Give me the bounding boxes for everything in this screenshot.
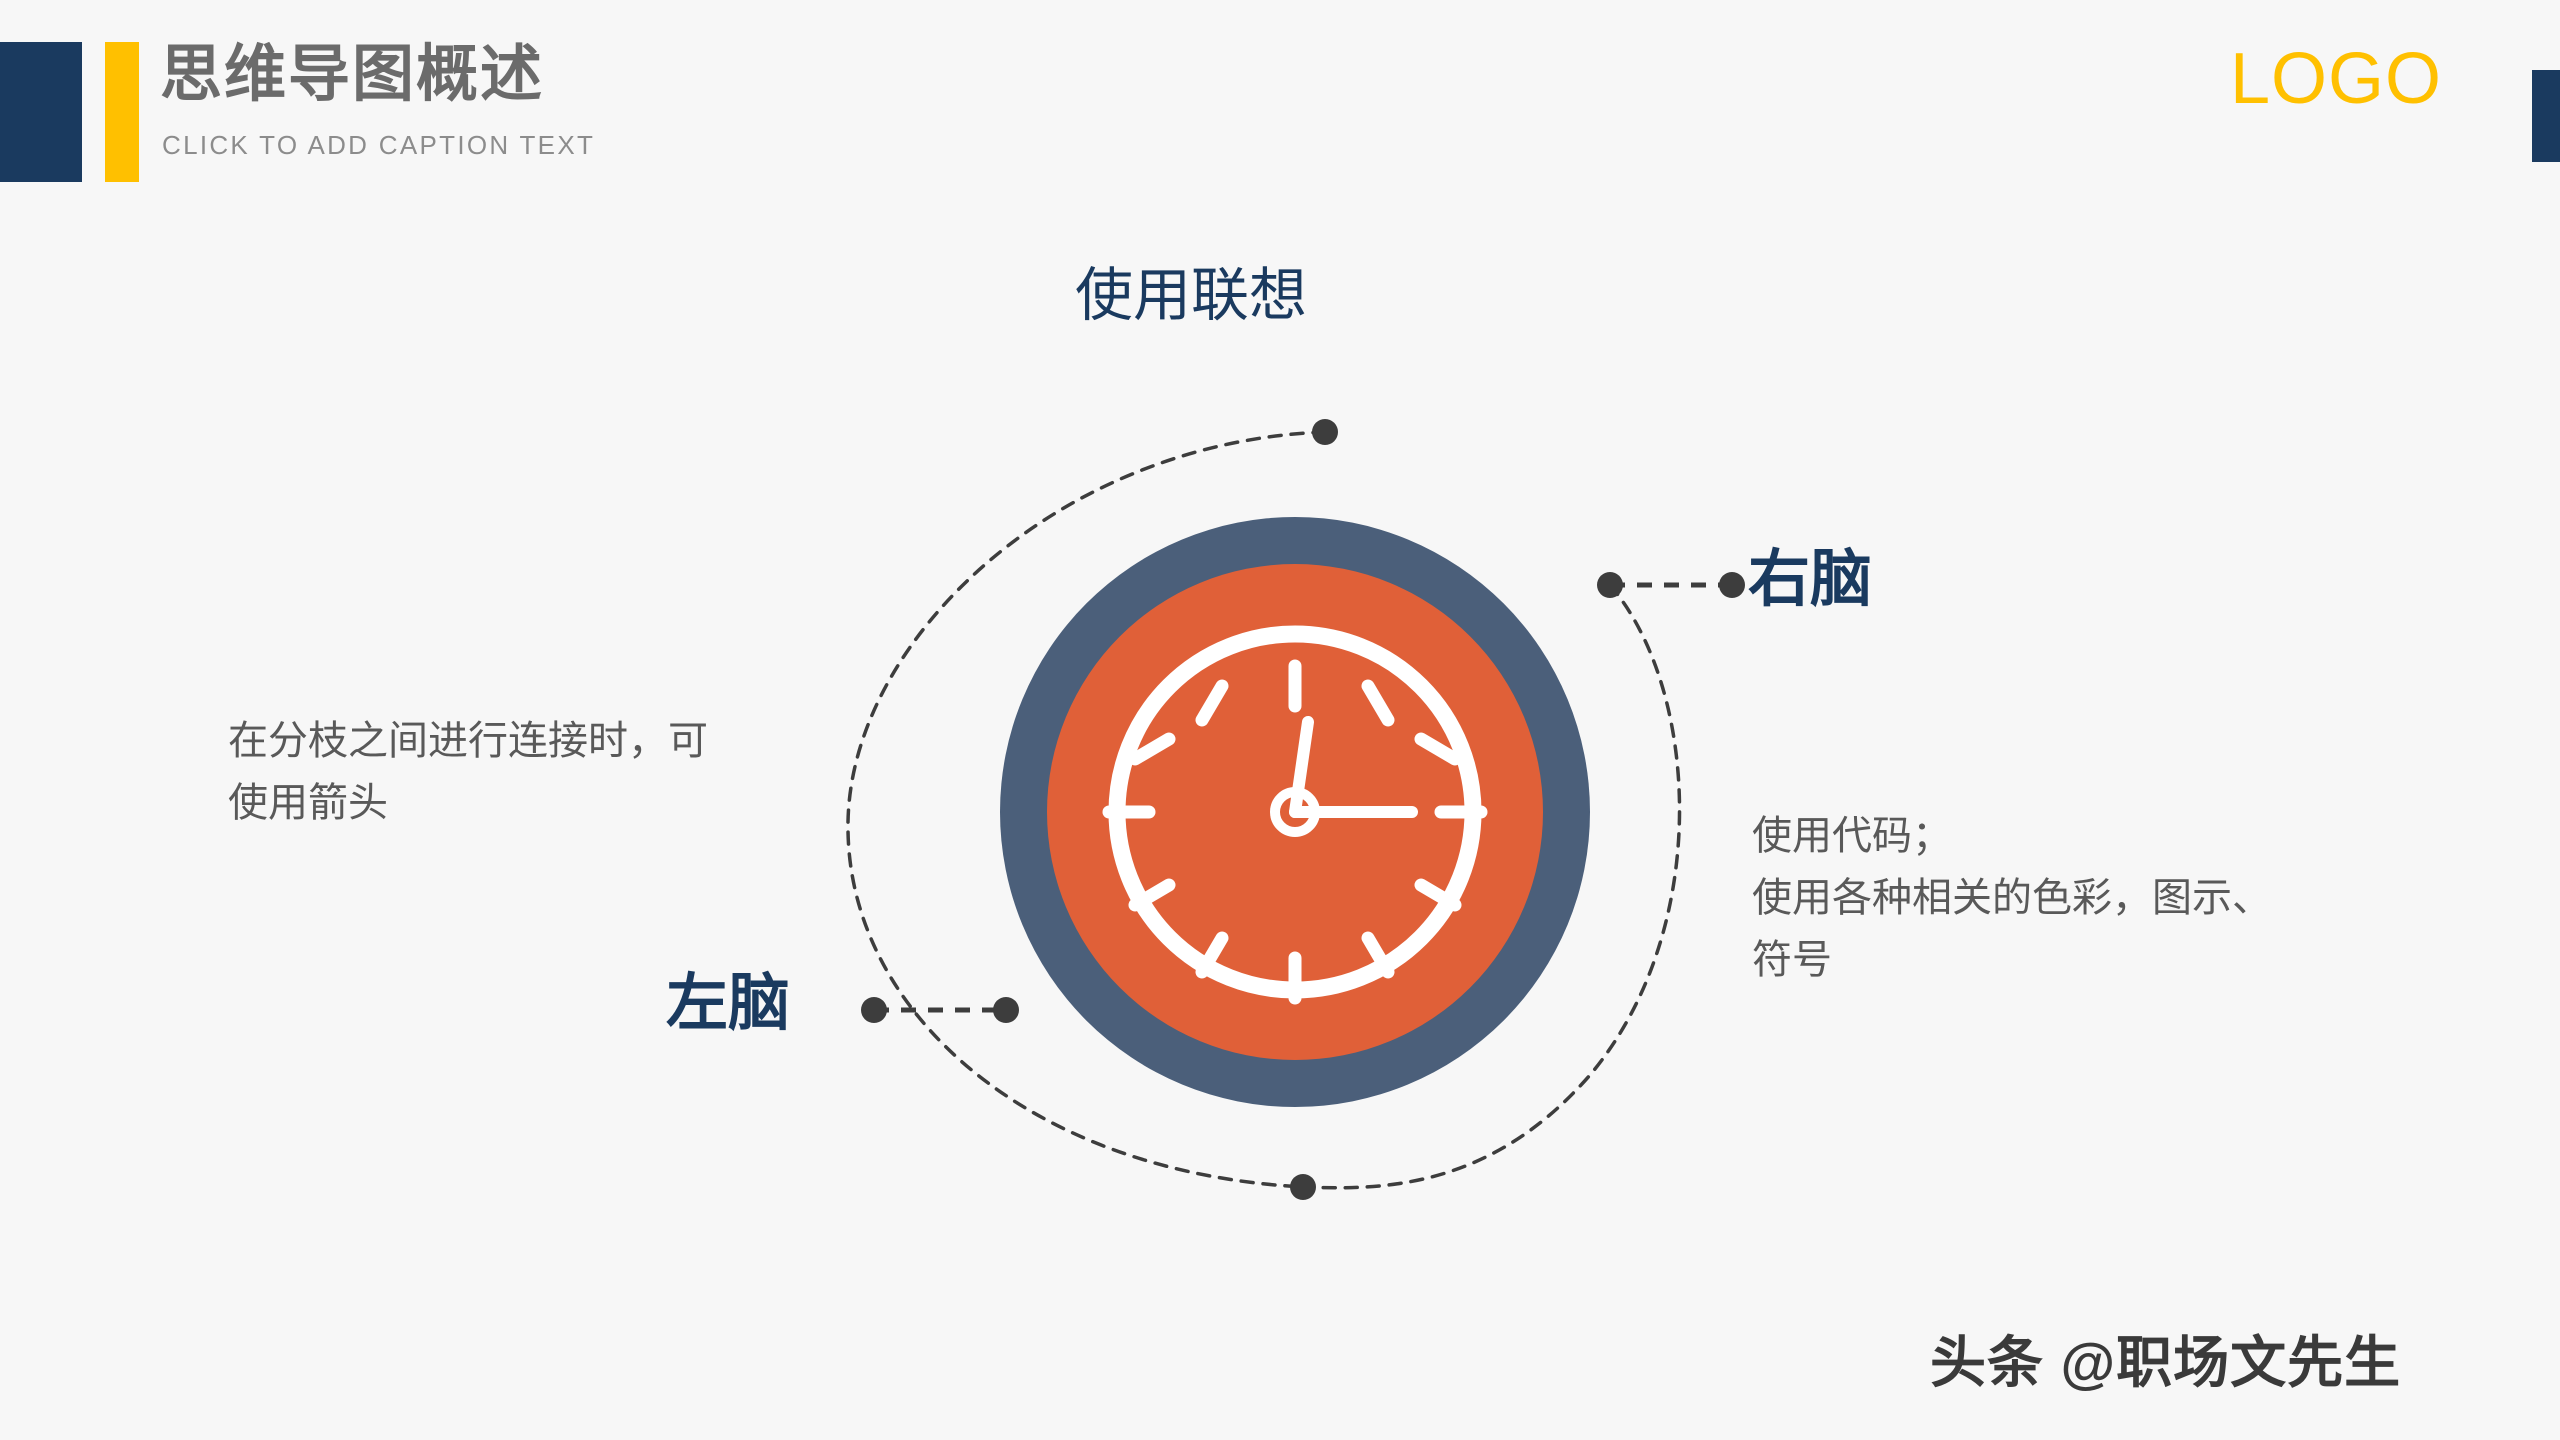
description-left: 在分枝之间进行连接时，可 使用箭头	[228, 710, 868, 834]
slide-canvas: 思维导图概述 CLICK TO ADD CAPTION TEXT LOGO 使用…	[0, 0, 2560, 1440]
description-right: 使用代码； 使用各种相关的色彩，图示、 符号	[1752, 805, 2452, 991]
watermark-text: 头条 @职场文先生	[1930, 1318, 2401, 1399]
connector-node-right	[1597, 572, 1623, 598]
connector-node-left-stub-end	[861, 997, 887, 1023]
connector-node-bottom	[1290, 1174, 1316, 1200]
connector-node-right-stub-end	[1719, 572, 1745, 598]
connector-node-top	[1312, 419, 1338, 445]
clock-icon	[1000, 517, 1590, 1107]
connector-node-left	[993, 997, 1019, 1023]
label-left-brain: 左脑	[666, 952, 790, 1042]
label-right-brain: 右脑	[1748, 528, 1872, 618]
